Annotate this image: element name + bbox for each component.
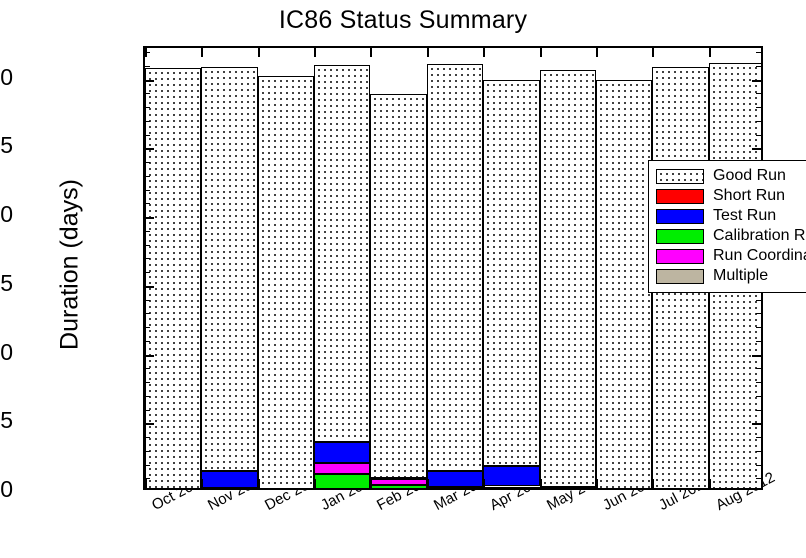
y-tick-minor (145, 465, 150, 466)
y-tick-label: 30 (0, 66, 13, 89)
y-tick-minor (756, 93, 761, 94)
y-tick (145, 423, 154, 425)
y-tick-minor (756, 121, 761, 122)
y-tick-minor (145, 66, 150, 67)
bar-segment (540, 487, 596, 488)
x-tick (540, 479, 542, 488)
y-tick-minor (756, 396, 761, 397)
legend-item: Calibration Run (656, 226, 806, 246)
plot-area: Good RunShort RunTest RunCalibration Run… (143, 46, 763, 490)
bar-segment (201, 67, 257, 471)
bar-segment (596, 80, 652, 488)
y-tick-minor (145, 162, 150, 163)
y-tick-minor (145, 410, 150, 411)
y-tick-minor (145, 176, 150, 177)
bar-segment (483, 466, 539, 487)
x-tick (258, 479, 260, 488)
x-tick (709, 479, 711, 488)
y-tick-minor (145, 272, 150, 273)
y-tick-minor (145, 341, 150, 342)
bar-segment (427, 471, 483, 487)
y-tick-label: 20 (0, 203, 13, 226)
y-tick (752, 355, 761, 357)
x-tick (709, 48, 711, 57)
x-tick (483, 48, 485, 57)
y-tick (752, 423, 761, 425)
y-tick (145, 217, 154, 219)
legend-item-label: Run Coordinator Bad (713, 248, 806, 264)
y-tick (752, 148, 761, 150)
bar-segment (314, 474, 370, 488)
y-tick-minor (145, 382, 150, 383)
x-tick (427, 479, 429, 488)
y-tick-minor (145, 313, 150, 314)
page-title: IC86 Status Summary (0, 6, 806, 35)
x-tick (314, 479, 316, 488)
legend-swatch-icon (656, 189, 704, 204)
bar-segment (314, 442, 370, 463)
bar-segment (314, 65, 370, 442)
x-tick (483, 479, 485, 488)
y-tick (145, 80, 154, 82)
y-axis-title: Duration (days) (56, 55, 85, 475)
legend-item-label: Test Run (713, 208, 776, 224)
y-tick-minor (756, 341, 761, 342)
y-tick-minor (145, 437, 150, 438)
y-tick-minor (756, 437, 761, 438)
y-tick-minor (756, 107, 761, 108)
y-tick-label: 15 (0, 272, 13, 295)
bar-segment (427, 64, 483, 471)
legend-item: Run Coordinator Bad (656, 246, 806, 266)
bar-segment (483, 80, 539, 466)
x-tick (596, 48, 598, 57)
legend-item: Test Run (656, 206, 806, 226)
x-tick (145, 48, 147, 57)
y-tick-minor (145, 327, 150, 328)
x-tick (258, 48, 260, 57)
x-tick (201, 48, 203, 57)
y-tick-label: 10 (0, 341, 13, 364)
bar-segment (483, 487, 539, 489)
legend-item: Short Run (656, 186, 806, 206)
legend-swatch-icon (656, 209, 704, 224)
y-tick-minor (756, 300, 761, 301)
legend-item-label: Good Run (713, 168, 786, 184)
y-tick (145, 286, 154, 288)
y-tick-minor (756, 410, 761, 411)
y-tick-minor (145, 203, 150, 204)
y-tick-minor (756, 52, 761, 53)
legend-swatch-icon (656, 169, 704, 184)
legend-swatch-icon (656, 269, 704, 284)
y-tick-label: 0 (0, 478, 13, 501)
legend: Good RunShort RunTest RunCalibration Run… (648, 160, 806, 293)
bar-segment (314, 463, 370, 474)
x-tick (596, 479, 598, 488)
legend-item: Good Run (656, 166, 806, 186)
y-tick-minor (145, 368, 150, 369)
y-tick-minor (145, 300, 150, 301)
y-tick-minor (145, 231, 150, 232)
y-tick-minor (756, 451, 761, 452)
y-tick-minor (145, 121, 150, 122)
legend-item-label: Calibration Run (713, 228, 806, 244)
x-tick (652, 479, 654, 488)
y-tick-minor (145, 258, 150, 259)
x-tick (370, 479, 372, 488)
y-tick-minor (756, 66, 761, 67)
x-tick (652, 48, 654, 57)
y-tick-minor (756, 478, 761, 479)
y-tick-minor (756, 135, 761, 136)
y-tick-minor (145, 396, 150, 397)
bar-segment (258, 76, 314, 488)
y-tick-minor (145, 245, 150, 246)
y-tick-minor (756, 313, 761, 314)
x-tick (314, 48, 316, 57)
y-tick-minor (756, 465, 761, 466)
y-tick-minor (145, 107, 150, 108)
y-tick-minor (756, 382, 761, 383)
bar-segment (427, 487, 483, 488)
y-tick-label: 25 (0, 134, 13, 157)
x-tick (540, 48, 542, 57)
legend-swatch-icon (656, 249, 704, 264)
y-tick-minor (145, 451, 150, 452)
bar-segment (540, 70, 596, 488)
bar-segment (370, 485, 426, 488)
y-tick-minor (756, 368, 761, 369)
legend-swatch-icon (656, 229, 704, 244)
x-tick (145, 479, 147, 488)
x-tick (427, 48, 429, 57)
legend-item: Multiple (656, 266, 806, 286)
bar-segment (370, 94, 426, 478)
x-tick (370, 48, 372, 57)
legend-item-label: Multiple (713, 268, 768, 284)
y-tick (145, 355, 154, 357)
bar-segment (370, 479, 426, 485)
bar-segment (370, 478, 426, 480)
y-tick (752, 80, 761, 82)
y-tick-minor (756, 327, 761, 328)
x-tick (201, 479, 203, 488)
y-tick-minor (145, 190, 150, 191)
y-tick-minor (145, 135, 150, 136)
y-tick-minor (145, 93, 150, 94)
y-tick (145, 148, 154, 150)
bar-segment (201, 471, 257, 487)
legend-item-label: Short Run (713, 188, 785, 204)
y-tick-label: 5 (0, 409, 13, 432)
